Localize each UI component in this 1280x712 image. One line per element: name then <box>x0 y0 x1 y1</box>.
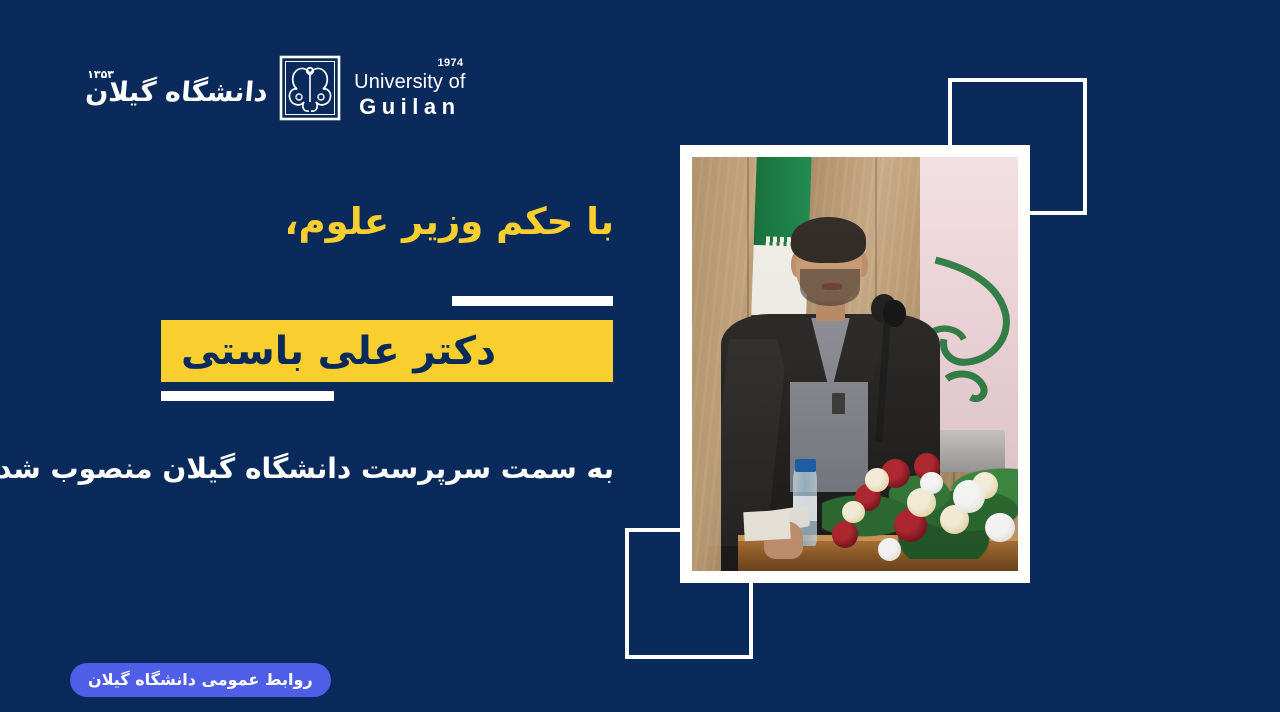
white-rose <box>985 513 1014 542</box>
public-relations-badge-label: روابط عمومی دانشگاه گیلان <box>88 672 313 688</box>
white-rose <box>953 480 986 513</box>
bottle-cap <box>795 459 816 471</box>
logo-persian-name: دانشگاه گیلان <box>84 77 269 108</box>
speaker-photo <box>692 157 1018 571</box>
cream-rose <box>842 501 865 524</box>
logo-guilan-text: Guilan <box>354 96 465 118</box>
logo-english-wordmark: 1974 University of Guilan <box>354 58 465 118</box>
logo-university-of-text: University of <box>354 72 465 92</box>
public-relations-badge[interactable]: روابط عمومی دانشگاه گیلان <box>70 663 331 697</box>
guilan-emblem-icon <box>279 55 341 121</box>
logo-english-year: 1974 <box>354 58 465 69</box>
poster-canvas: ۱۳۵۳ دانشگاه گیلان 1974 University of Gu… <box>0 0 1280 712</box>
speaker-hair <box>791 217 866 263</box>
speaker-mouth <box>822 283 842 290</box>
decor-rule-top <box>452 296 613 306</box>
white-rose <box>878 538 901 561</box>
decor-rule-bottom <box>161 391 334 401</box>
university-logo[interactable]: ۱۳۵۳ دانشگاه گیلان 1974 University of Gu… <box>86 48 401 128</box>
logo-persian-wordmark: ۱۳۵۳ دانشگاه گیلان <box>84 69 269 107</box>
headline-subtitle: به سمت سرپرست دانشگاه گیلان منصوب شد <box>0 452 614 485</box>
name-banner: دکتر علی باستی <box>161 320 613 382</box>
podium-papers <box>743 510 790 541</box>
logo-persian-year: ۱۳۵۳ <box>87 69 269 81</box>
person-name: دکتر علی باستی <box>181 332 496 371</box>
microphone-head <box>883 300 906 327</box>
shirt-pocket-pen <box>832 393 845 414</box>
photo-frame <box>680 145 1030 583</box>
headline-kicker: با حکم وزیر علوم، <box>284 200 614 243</box>
